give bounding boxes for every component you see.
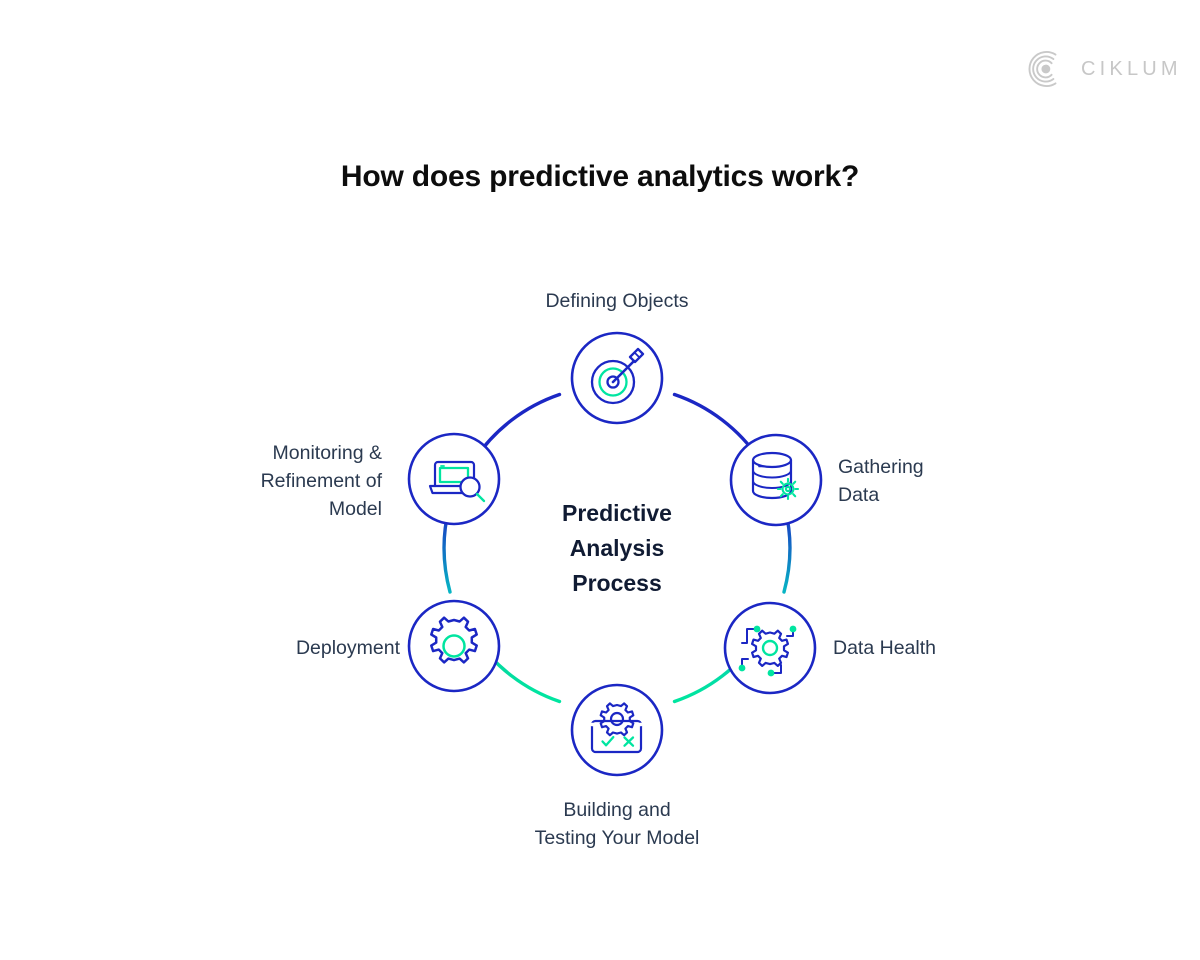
label-monitoring-refinement: Monitoring & Refinement of Model: [100, 439, 382, 523]
center-label-line3: Process: [497, 566, 737, 601]
node-circle-building-testing[interactable]: [572, 685, 662, 775]
label-data-health: Data Health: [833, 634, 1093, 662]
label-gathering-data: Gathering Data: [838, 453, 1078, 509]
node-data-health[interactable]: [725, 603, 815, 693]
center-label: Predictive Analysis Process: [497, 496, 737, 601]
label-building-testing: Building and Testing Your Model: [457, 796, 777, 852]
node-circle-gathering-data[interactable]: [731, 435, 821, 525]
node-circle-monitoring-refinement[interactable]: [409, 434, 499, 524]
node-defining-objects[interactable]: [572, 333, 662, 423]
center-label-line1: Predictive: [497, 496, 737, 531]
node-circle-deployment[interactable]: [409, 601, 499, 691]
cycle-diagram: Predictive Analysis Process Defining Obj…: [0, 0, 1200, 960]
label-deployment: Deployment: [128, 634, 400, 662]
node-circle-data-health[interactable]: [725, 603, 815, 693]
node-monitoring-refinement[interactable]: [409, 434, 499, 524]
node-deployment[interactable]: [409, 601, 499, 691]
center-label-line2: Analysis: [497, 531, 737, 566]
node-building-testing[interactable]: [572, 685, 662, 775]
node-gathering-data[interactable]: [731, 435, 821, 525]
label-defining-objects: Defining Objects: [457, 287, 777, 315]
